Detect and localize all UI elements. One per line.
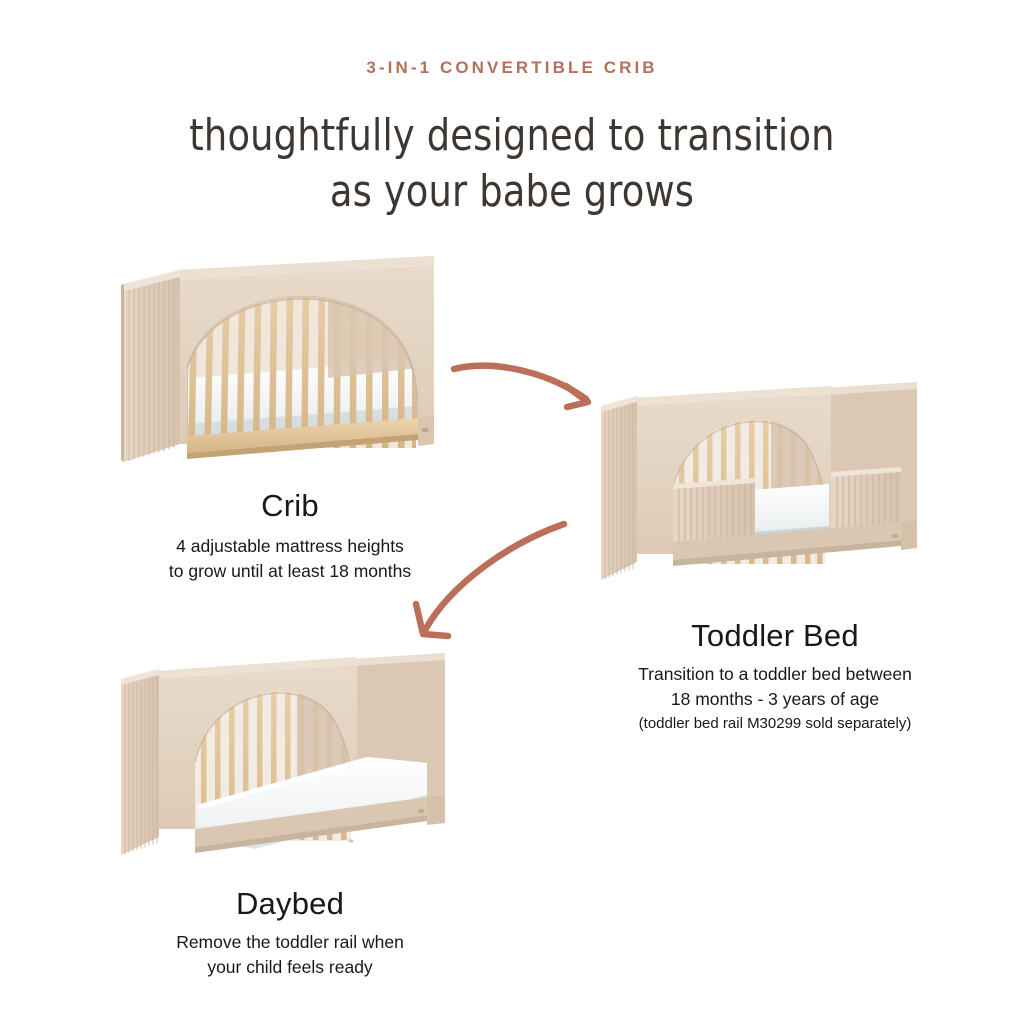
caption-title-daybed: Daybed xyxy=(130,886,450,922)
caption-note-toddler-bed: (toddler bed rail M30299 sold separately… xyxy=(580,713,970,734)
caption-title-toddler-bed: Toddler Bed xyxy=(600,618,950,654)
caption-desc-daybed-line-1: Remove the toddler rail when xyxy=(115,930,465,955)
arrow-crib-to-toddler xyxy=(440,345,610,415)
caption-desc-daybed: Remove the toddler rail when your child … xyxy=(115,930,465,980)
eyebrow-label: 3-IN-1 CONVERTIBLE CRIB xyxy=(0,58,1024,78)
toddler-fluted-end-panel xyxy=(601,396,637,580)
infographic-canvas: 3-IN-1 CONVERTIBLE CRIB thoughtfully des… xyxy=(0,0,1024,1024)
headline-line-1: thoughtfully designed to transition xyxy=(36,108,988,164)
caption-desc-daybed-line-2: your child feels ready xyxy=(115,955,465,980)
product-image-crib xyxy=(118,248,458,480)
page-title: thoughtfully designed to transition as y… xyxy=(36,108,988,221)
arrow-toddler-to-daybed xyxy=(392,512,572,652)
product-image-toddler-bed xyxy=(595,374,931,590)
caption-desc-toddler-line-1: Transition to a toddler bed between xyxy=(580,662,970,687)
product-image-daybed xyxy=(115,645,459,867)
headline-line-2: as your babe grows xyxy=(36,164,988,220)
crib-fluted-panel xyxy=(121,270,180,462)
caption-desc-toddler-line-2: 18 months - 3 years of age xyxy=(580,687,970,712)
daybed-fluted-end-panel xyxy=(121,669,159,855)
caption-desc-toddler-bed: Transition to a toddler bed between 18 m… xyxy=(580,662,970,712)
